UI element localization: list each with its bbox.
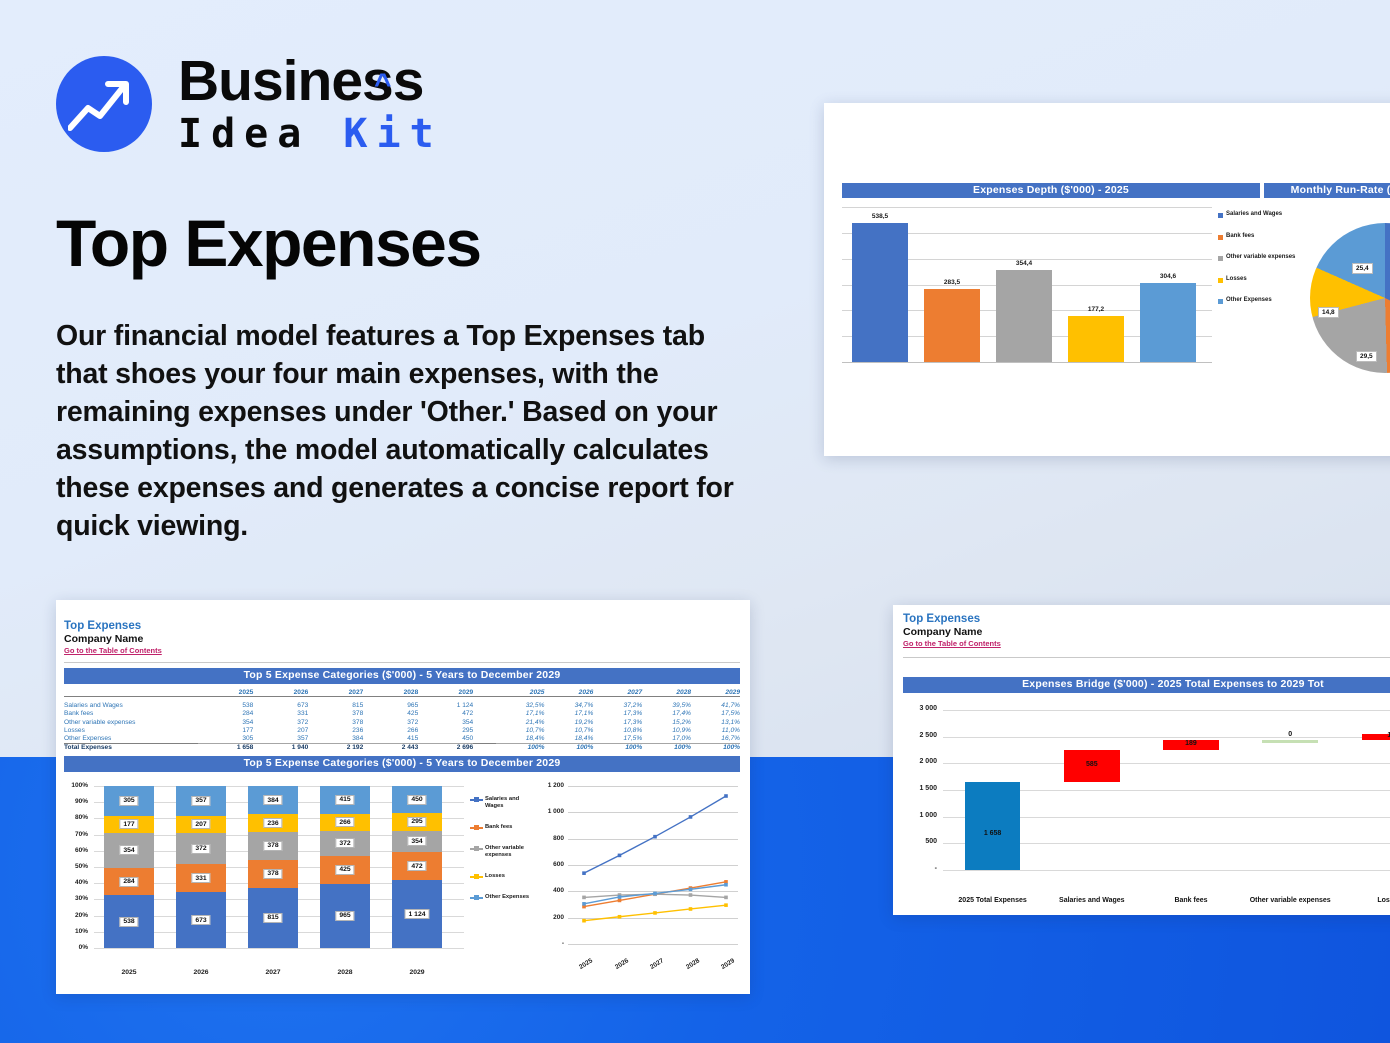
table-row: Bank fees28433137842547217,1%17,1%17,3%1…: [64, 710, 740, 718]
expenses-depth-bar-chart: 538,5283,5354,4177,2304,6: [842, 207, 1212, 362]
stacked-column: 357207372331673: [176, 786, 226, 948]
row-value: 236: [308, 726, 363, 734]
row-percent: 17,5%: [593, 734, 642, 743]
stack-segment: 384: [248, 786, 298, 814]
line-chart-legend: Salaries and WagesBank feesOther variabl…: [470, 796, 536, 915]
y-axis-tick: 90%: [64, 798, 88, 805]
row-value: 305: [198, 734, 253, 743]
x-axis-tick: Losses: [1340, 897, 1390, 904]
stack-segment: 354: [392, 831, 442, 852]
bar: [1140, 283, 1196, 362]
row-value: 415: [363, 734, 418, 743]
segment-value-label: 673: [191, 915, 210, 925]
row-value: 331: [253, 710, 308, 718]
gridline: [94, 948, 464, 949]
row-percent: 100%: [642, 743, 691, 752]
y-axis-tick: 30%: [64, 895, 88, 902]
y-axis-tick: 2 000: [903, 758, 937, 765]
legend-label: Bank fees: [485, 824, 512, 831]
legend-item: Other variable expenses: [1218, 254, 1304, 262]
sheet-company: Company Name: [64, 633, 162, 645]
row-percent: 15,2%: [642, 718, 691, 726]
row-value: 1 940: [253, 743, 308, 752]
row-percent: 16,7%: [691, 734, 740, 743]
x-axis-tick: 2025: [104, 969, 154, 976]
segment-value-label: 378: [263, 869, 282, 879]
x-axis-tick: Bank fees: [1141, 897, 1240, 904]
bar-value-label: 538,5: [845, 213, 915, 220]
table-row: Salaries and Wages5386738159651 12432,5%…: [64, 702, 740, 710]
row-percent: 18,4%: [544, 734, 593, 743]
bar-value-label: 283,5: [917, 279, 987, 286]
row-percent: 11,0%: [691, 726, 740, 734]
legend-item: Bank fees: [470, 824, 536, 831]
x-axis-tick: 2027: [248, 969, 298, 976]
legend-marker: [474, 874, 479, 879]
stack-segment: 425: [320, 856, 370, 884]
expense-categories-table: 2025202620272028202920252026202720282029…: [64, 688, 740, 752]
legend-line: [470, 876, 483, 878]
row-value: 295: [418, 726, 473, 734]
stacked-column: 384236378378815: [248, 786, 298, 948]
segment-value-label: 354: [407, 836, 426, 846]
stack-segment: 284: [104, 868, 154, 896]
bar-value-label: 1 658: [965, 830, 1021, 837]
row-percent: 13,1%: [691, 718, 740, 726]
row-percent: 100%: [691, 743, 740, 752]
table-row: Other variable expenses35437237837235421…: [64, 718, 740, 726]
sheet-header-left: Top Expenses Company Name Go to the Tabl…: [64, 620, 162, 656]
segment-value-label: 295: [407, 817, 426, 827]
legend-swatch: [1218, 256, 1223, 261]
row-percent: 17,3%: [593, 718, 642, 726]
y-axis-tick: 100%: [64, 782, 88, 789]
x-axis-tick: 2028: [320, 969, 370, 976]
pie-value-label: 14,8: [1318, 307, 1339, 318]
table-header-cell: 2028: [363, 688, 418, 697]
row-percent: 17,4%: [642, 710, 691, 718]
x-axis-tick: Salaries and Wages: [1042, 897, 1141, 904]
row-value: 357: [253, 734, 308, 743]
y-axis-tick: 20%: [64, 912, 88, 919]
table-header-cell: 2027: [308, 688, 363, 697]
brand-name-accent: Kit: [343, 111, 442, 157]
brand-logo: ^ Business Idea Kit: [56, 50, 456, 160]
row-percent: 39,5%: [642, 702, 691, 710]
row-percent: 21,4%: [496, 718, 545, 726]
gridline: [943, 763, 1390, 764]
stack-segment: 305: [104, 786, 154, 816]
stack-segment: 372: [320, 831, 370, 856]
y-axis-tick: 1 500: [903, 785, 937, 792]
sheet-company: Company Name: [903, 626, 1001, 638]
expense-trend-line-chart: 1 2001 000800600400200-20252026202720282…: [538, 778, 740, 978]
row-value: 378: [308, 718, 363, 726]
circumflex-accent-icon: ^: [374, 54, 391, 116]
segment-value-label: 236: [263, 818, 282, 828]
legend-item: Losses: [1218, 276, 1304, 284]
table-header-cell: 2026: [253, 688, 308, 697]
header-divider: [903, 657, 1390, 658]
segment-value-label: 372: [335, 838, 354, 848]
row-label: Salaries and Wages: [64, 702, 198, 710]
y-axis-tick: 70%: [64, 831, 88, 838]
axis-line: [842, 362, 1212, 363]
band-bridge-title: Expenses Bridge ($'000) - 2025 Total Exp…: [903, 677, 1390, 693]
y-axis-tick: 1 000: [903, 812, 937, 819]
stack-segment: 378: [248, 860, 298, 888]
table-header-row: 2025202620272028202920252026202720282029: [64, 688, 740, 697]
gridline: [943, 870, 1390, 871]
stack-segment: 378: [248, 832, 298, 860]
stack-segment: 965: [320, 884, 370, 948]
bar-value-label: 585: [1064, 761, 1120, 768]
legend-label: Other Expenses: [1226, 297, 1272, 305]
row-label: Bank fees: [64, 710, 198, 718]
row-label: Losses: [64, 726, 198, 734]
table-of-contents-link[interactable]: Go to the Table of Contents: [903, 638, 1001, 649]
segment-value-label: 266: [335, 817, 354, 827]
legend-line: [470, 848, 483, 850]
stack-segment: 331: [176, 864, 226, 892]
segment-value-label: 425: [335, 865, 354, 875]
row-value: 965: [363, 702, 418, 710]
expenses-bridge-waterfall-chart: 3 0002 5002 0001 5001 000500-1 6582025 T…: [903, 700, 1390, 905]
band-expenses-depth: Expenses Depth ($'000) - 2025: [842, 183, 1260, 198]
y-axis-tick: 0%: [64, 944, 88, 951]
bar-value-label: 0: [1262, 731, 1318, 738]
table-header-cell: 2028: [642, 688, 691, 697]
row-value: 2 192: [308, 743, 363, 752]
segment-value-label: 354: [119, 845, 138, 855]
bar-value-label: 189: [1163, 740, 1219, 747]
segment-value-label: 538: [119, 917, 138, 927]
legend-label: Other variable expenses: [1226, 254, 1295, 262]
legend-item: Losses: [470, 873, 536, 880]
row-percent: 37,2%: [593, 702, 642, 710]
sheet-title: Top Expenses: [903, 613, 1001, 626]
stack-segment: 372: [176, 833, 226, 864]
row-value: 354: [198, 718, 253, 726]
band-table-title: Top 5 Expense Categories ($'000) - 5 Yea…: [64, 668, 740, 684]
table-row: Losses17720723626629510,7%10,7%10,8%10,9…: [64, 726, 740, 734]
waterfall-bar: 585: [1064, 750, 1120, 781]
table-header-cell: 2029: [418, 688, 473, 697]
row-label: Other variable expenses: [64, 718, 198, 726]
table-header-cell: 2027: [593, 688, 642, 697]
stack-segment: 295: [392, 813, 442, 831]
y-axis-tick: -: [903, 865, 937, 872]
legend-item: Other variable expenses: [470, 845, 536, 859]
header-divider: [64, 662, 740, 663]
panel-top-5-expense-categories: Top Expenses Company Name Go to the Tabl…: [56, 600, 750, 994]
stacked-column: 415266372425965: [320, 786, 370, 948]
segment-value-label: 965: [335, 911, 354, 921]
row-percent: 100%: [593, 743, 642, 752]
stack-segment: 673: [176, 892, 226, 948]
row-value: 378: [308, 710, 363, 718]
row-percent: 34,7%: [544, 702, 593, 710]
stacked-column-chart: 100%90%80%70%60%50%40%30%20%10%0%3051773…: [64, 778, 468, 978]
pie-value-label: 29,5: [1356, 351, 1377, 362]
stack-segment: 472: [392, 852, 442, 880]
stack-segment: 538: [104, 895, 154, 948]
stack-segment: 1 124: [392, 880, 442, 948]
waterfall-bar: 0: [1262, 740, 1318, 743]
segment-value-label: 331: [191, 873, 210, 883]
table-header-cell: 2029: [691, 688, 740, 697]
row-value: 207: [253, 726, 308, 734]
stack-segment: 236: [248, 814, 298, 831]
row-percent: 17,0%: [642, 734, 691, 743]
segment-value-label: 1 124: [404, 909, 429, 919]
row-value: 372: [253, 718, 308, 726]
row-value: 384: [308, 734, 363, 743]
legend-label: Losses: [485, 873, 505, 880]
segment-value-label: 207: [191, 819, 210, 829]
sheet-title: Top Expenses: [64, 620, 162, 633]
bar: [852, 223, 908, 362]
segment-value-label: 305: [119, 796, 138, 806]
stack-segment: 450: [392, 786, 442, 813]
legend-swatch: [1218, 235, 1223, 240]
stacked-column: 4502953544721 124: [392, 786, 442, 948]
legend-item: Bank fees: [1218, 233, 1304, 241]
table-row: Other Expenses30535738441545018,4%18,4%1…: [64, 734, 740, 743]
x-axis-tick: 2026: [176, 969, 226, 976]
page-title: Top Expenses: [56, 205, 756, 281]
legend-marker: [474, 797, 479, 802]
stack-segment: 266: [320, 814, 370, 832]
legend-line: [470, 827, 483, 829]
legend-item: Other Expenses: [1218, 297, 1304, 305]
segment-value-label: 472: [407, 861, 426, 871]
legend-swatch: [1218, 213, 1223, 218]
y-axis-tick: 3 000: [903, 705, 937, 712]
legend-label: Other Expenses: [485, 894, 529, 901]
row-percent: 100%: [544, 743, 593, 752]
bar: [924, 289, 980, 362]
row-percent: 17,3%: [593, 710, 642, 718]
row-percent: 17,1%: [544, 710, 593, 718]
segment-value-label: 177: [119, 819, 138, 829]
monthly-run-rate-pie-chart: 25,414,829,5: [1310, 223, 1390, 383]
growth-arrow-icon: [56, 56, 152, 152]
row-percent: 100%: [496, 743, 545, 752]
stacked-column: 305177354284538: [104, 786, 154, 948]
y-axis-tick: 10%: [64, 928, 88, 935]
segment-value-label: 384: [263, 795, 282, 805]
bar: [996, 270, 1052, 362]
legend-marker: [474, 825, 479, 830]
stack-segment: 354: [104, 833, 154, 868]
bar-value-label: 1: [1362, 732, 1390, 739]
segment-value-label: 815: [263, 913, 282, 923]
stack-segment: 207: [176, 816, 226, 833]
stack-segment: 415: [320, 786, 370, 814]
row-label: Total Expenses: [64, 743, 198, 752]
segment-value-label: 450: [407, 795, 426, 805]
legend-item: Other Expenses: [470, 894, 536, 901]
bar-value-label: 177,2: [1061, 306, 1131, 313]
row-label: Other Expenses: [64, 734, 198, 743]
legend-label: Other variable expenses: [485, 845, 536, 859]
expenses-depth-legend: Salaries and WagesBank feesOther variabl…: [1218, 211, 1304, 319]
sheet-header-right: Top Expenses Company Name Go to the Tabl…: [903, 613, 1001, 649]
row-percent: 10,9%: [642, 726, 691, 734]
waterfall-bar: 1 658: [965, 782, 1021, 870]
brand-name-secondary: Idea: [178, 111, 310, 157]
segment-value-label: 357: [191, 796, 210, 806]
pie-slices: [1310, 223, 1390, 373]
row-percent: 17,5%: [691, 710, 740, 718]
y-axis-tick: 40%: [64, 879, 88, 886]
legend-label: Bank fees: [1226, 233, 1254, 241]
x-axis-tick: 2029: [392, 969, 442, 976]
row-value: 1 658: [198, 743, 253, 752]
gridline: [943, 710, 1390, 711]
legend-line: [470, 799, 483, 801]
row-value: 450: [418, 734, 473, 743]
segment-value-label: 378: [263, 841, 282, 851]
row-value: 266: [363, 726, 418, 734]
table-header-cell: 2025: [198, 688, 253, 697]
stack-segment: 815: [248, 888, 298, 948]
row-value: 2 443: [363, 743, 418, 752]
row-value: 1 124: [418, 702, 473, 710]
legend-line: [470, 897, 483, 899]
legend-marker: [474, 846, 479, 851]
waterfall-bar: 189: [1163, 740, 1219, 750]
y-axis-tick: 50%: [64, 863, 88, 870]
table-header-cell: [64, 688, 198, 697]
row-value: 372: [363, 718, 418, 726]
legend-label: Salaries and Wages: [485, 796, 536, 810]
x-axis-tick: Other variable expenses: [1241, 897, 1340, 904]
segment-value-label: 284: [119, 877, 138, 887]
table-of-contents-link[interactable]: Go to the Table of Contents: [64, 645, 162, 656]
row-percent: 10,7%: [496, 726, 545, 734]
row-value: 472: [418, 710, 473, 718]
row-percent: 10,8%: [593, 726, 642, 734]
bar: [1068, 316, 1124, 362]
row-value: 538: [198, 702, 253, 710]
x-axis-tick: 2025 Total Expenses: [943, 897, 1042, 904]
page-description: Our financial model features a Top Expen…: [56, 317, 756, 545]
y-axis-tick: 500: [903, 838, 937, 845]
table-gap: [473, 688, 495, 697]
row-percent: 18,4%: [496, 734, 545, 743]
legend-swatch: [1218, 278, 1223, 283]
row-value: 284: [198, 710, 253, 718]
legend-label: Losses: [1226, 276, 1247, 284]
stack-segment: 357: [176, 786, 226, 816]
row-percent: 10,7%: [544, 726, 593, 734]
row-percent: 32,5%: [496, 702, 545, 710]
line-series-group: [538, 778, 740, 978]
segment-value-label: 372: [191, 844, 210, 854]
y-axis-tick: 2 500: [903, 732, 937, 739]
segment-value-label: 415: [335, 795, 354, 805]
legend-marker: [474, 895, 479, 900]
y-axis-tick: 60%: [64, 847, 88, 854]
bar-value-label: 354,4: [989, 260, 1059, 267]
table-header-cell: 2025: [496, 688, 545, 697]
panel-expenses-bridge: Top Expenses Company Name Go to the Tabl…: [893, 605, 1390, 915]
row-percent: 17,1%: [496, 710, 545, 718]
bar-value-label: 304,6: [1133, 273, 1203, 280]
table-header-cell: 2026: [544, 688, 593, 697]
row-value: 815: [308, 702, 363, 710]
row-value: 177: [198, 726, 253, 734]
row-value: 673: [253, 702, 308, 710]
legend-label: Salaries and Wages: [1226, 211, 1282, 219]
panel-expenses-depth: Expenses Depth ($'000) - 2025 Monthly Ru…: [824, 103, 1390, 456]
band-monthly-run-rate: Monthly Run-Rate ($'000: [1264, 183, 1390, 198]
pie-value-label: 25,4: [1352, 263, 1373, 274]
legend-item: Salaries and Wages: [470, 796, 536, 810]
row-percent: 19,2%: [544, 718, 593, 726]
band-chart-title: Top 5 Expense Categories ($'000) - 5 Yea…: [64, 756, 740, 772]
legend-item: Salaries and Wages: [1218, 211, 1304, 219]
gridline: [943, 737, 1390, 738]
row-value: 354: [418, 718, 473, 726]
table-total-row: Total Expenses1 6581 9402 1922 4432 6961…: [64, 743, 740, 752]
row-value: 2 696: [418, 743, 473, 752]
gridline: [842, 207, 1212, 208]
y-axis-tick: 80%: [64, 814, 88, 821]
waterfall-bar: 1: [1362, 734, 1390, 740]
stack-segment: 177: [104, 816, 154, 833]
row-percent: 41,7%: [691, 702, 740, 710]
legend-swatch: [1218, 299, 1223, 304]
row-value: 425: [363, 710, 418, 718]
